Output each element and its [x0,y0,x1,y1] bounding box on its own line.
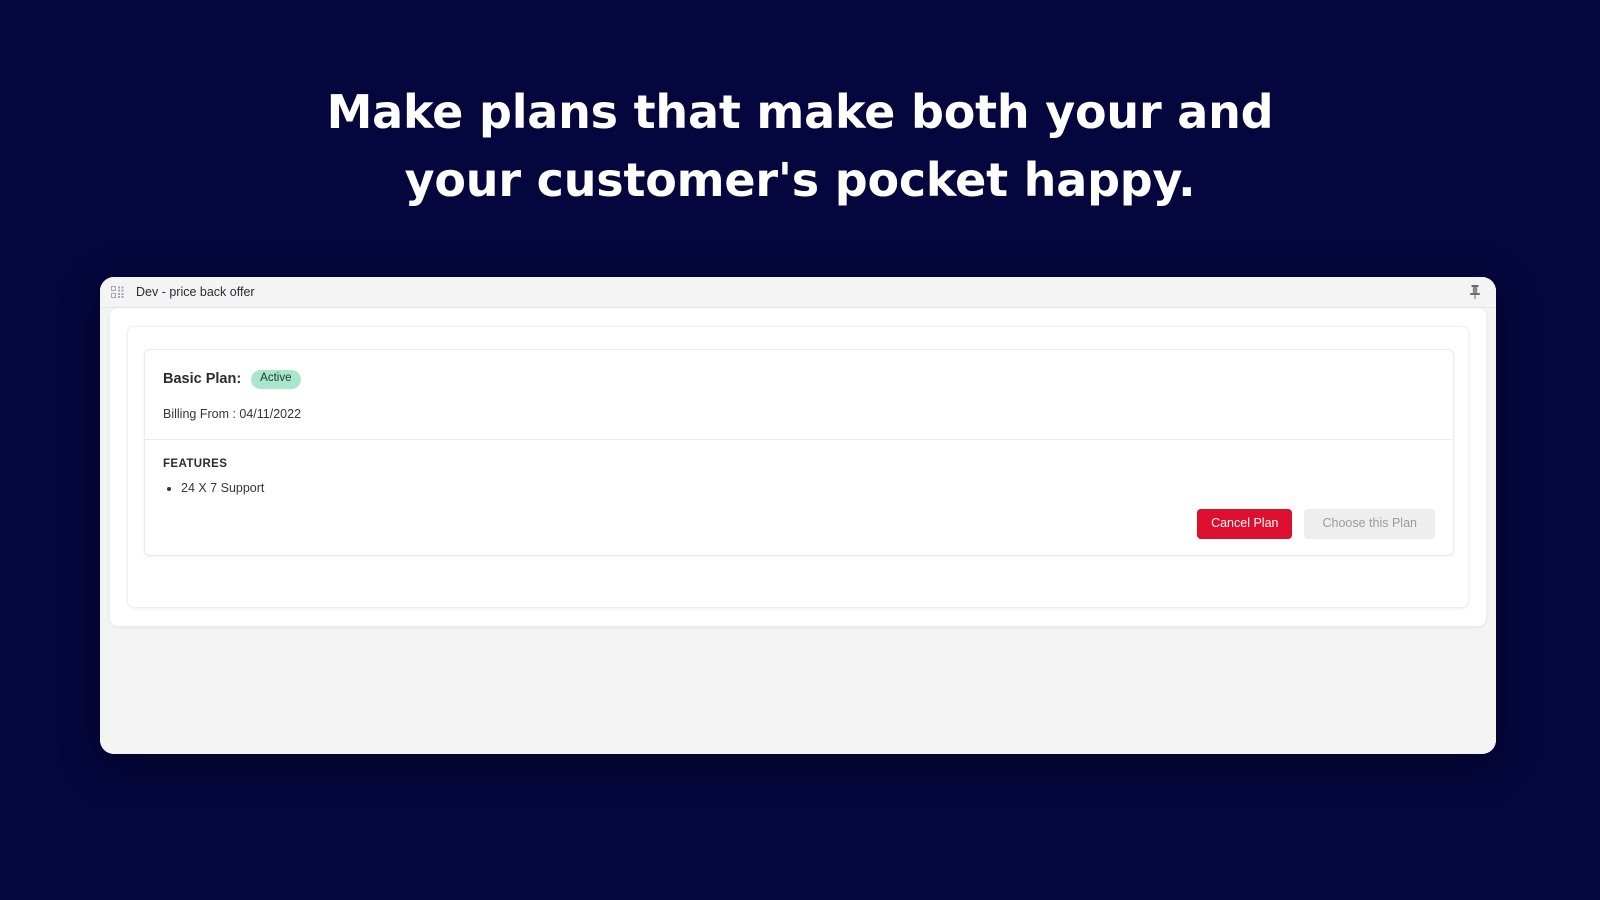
cancel-plan-button[interactable]: Cancel Plan [1197,509,1292,539]
plan-title-row: Basic Plan: Active [163,370,1435,389]
pushpin-icon[interactable] [1468,284,1482,300]
billing-from-text: Billing From : 04/11/2022 [163,407,1435,421]
plan-features-section: FEATURES 24 X 7 Support [145,440,1453,497]
plans-outer-panel: Basic Plan: Active Billing From : 04/11/… [110,308,1486,626]
plan-name-label: Basic Plan: [163,371,241,387]
plan-card: Basic Plan: Active Billing From : 04/11/… [144,349,1454,556]
plan-actions: Cancel Plan Choose this Plan [1197,509,1435,539]
choose-plan-button[interactable]: Choose this Plan [1304,509,1435,539]
plans-inner-panel: Basic Plan: Active Billing From : 04/11/… [127,326,1469,608]
list-item: 24 X 7 Support [181,479,1435,497]
plan-card-header: Basic Plan: Active Billing From : 04/11/… [145,350,1453,440]
apps-grid-icon [111,286,124,299]
features-heading: FEATURES [163,458,1435,470]
window-titlebar: Dev - price back offer [100,277,1496,308]
window-title: Dev - price back offer [136,285,255,299]
status-badge: Active [251,370,300,389]
browser-window: Dev - price back offer Basic Plan: [100,277,1496,754]
hero-section: Make plans that make both your and your … [0,78,1600,214]
features-list: 24 X 7 Support [181,479,1435,497]
titlebar-right-group [1468,284,1482,300]
app-content-area: Basic Plan: Active Billing From : 04/11/… [100,308,1496,754]
titlebar-left-group: Dev - price back offer [111,285,255,299]
page-title: Make plans that make both your and your … [270,78,1330,214]
